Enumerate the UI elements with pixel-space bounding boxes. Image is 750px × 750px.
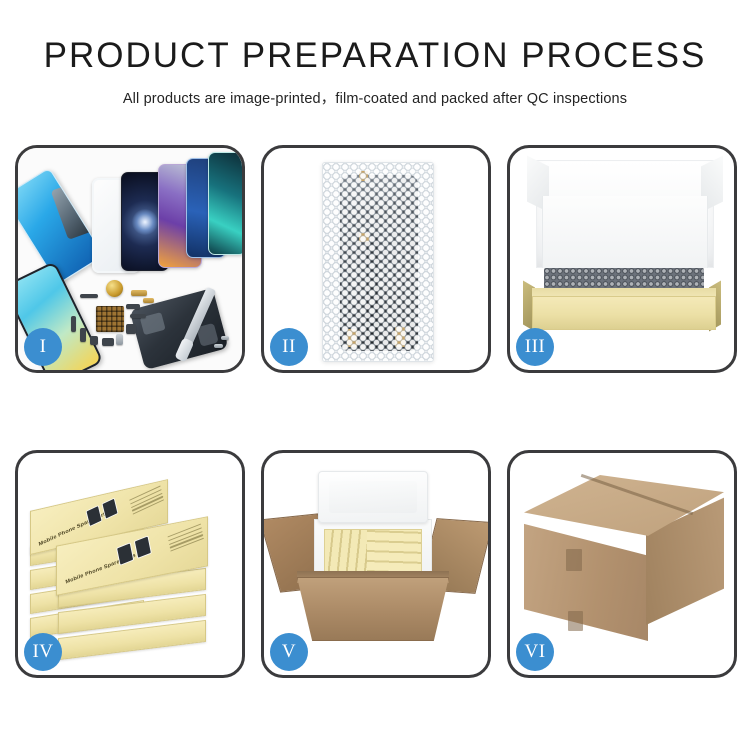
spare-part [143, 298, 154, 303]
step-badge-1: I [24, 328, 62, 366]
process-step-panel-2: II [261, 145, 491, 373]
spare-part [71, 316, 76, 332]
sealed-carton [524, 475, 724, 653]
spare-part [130, 314, 146, 318]
process-step-panel-5: V [261, 450, 491, 678]
spare-part [90, 336, 98, 345]
process-step-panel-4: Mobile Phone Spare Parts Mobile Phone Sp… [15, 450, 245, 678]
process-step-panel-1: I [15, 145, 245, 373]
step-badge-5: V [270, 633, 308, 671]
yellow-inner-box [532, 296, 716, 330]
page-title: PRODUCT PREPARATION PROCESS [0, 38, 750, 73]
process-step-panel-3: III [507, 145, 737, 373]
page-subtitle: All products are image-printed，film-coat… [0, 87, 750, 108]
chip-contact-grid [96, 306, 124, 332]
step-badge-3: III [516, 328, 554, 366]
bubble-wrap-bag [322, 162, 434, 362]
step-badge-2: II [270, 328, 308, 366]
carton-body [297, 577, 449, 641]
teal-gradient-phone [208, 152, 242, 255]
foam-box-lid [318, 471, 428, 523]
header: PRODUCT PREPARATION PROCESS All products… [0, 38, 750, 108]
screw [221, 336, 229, 340]
spare-part [126, 304, 140, 309]
step-badge-4: IV [24, 633, 62, 671]
carton-tape-upper [566, 549, 582, 571]
process-step-grid: I II [15, 145, 737, 678]
spare-part [80, 294, 98, 298]
spare-part [102, 338, 114, 346]
spare-part [80, 328, 86, 342]
foam-sheet [542, 196, 708, 268]
step-badge-6: VI [516, 633, 554, 671]
spare-part [116, 334, 123, 345]
box-stack: Mobile Phone Spare Parts Mobile Phone Sp… [26, 473, 240, 665]
bubble-texture [323, 163, 433, 361]
carton-tape-lower [568, 611, 583, 631]
screw [214, 344, 223, 348]
process-step-panel-6: VI [507, 450, 737, 678]
spare-part [126, 324, 136, 334]
spare-part [131, 290, 147, 296]
carton-face-left [524, 519, 648, 641]
vibration-motor-part [106, 280, 123, 297]
product-preparation-infographic: PRODUCT PREPARATION PROCESS All products… [0, 0, 750, 750]
